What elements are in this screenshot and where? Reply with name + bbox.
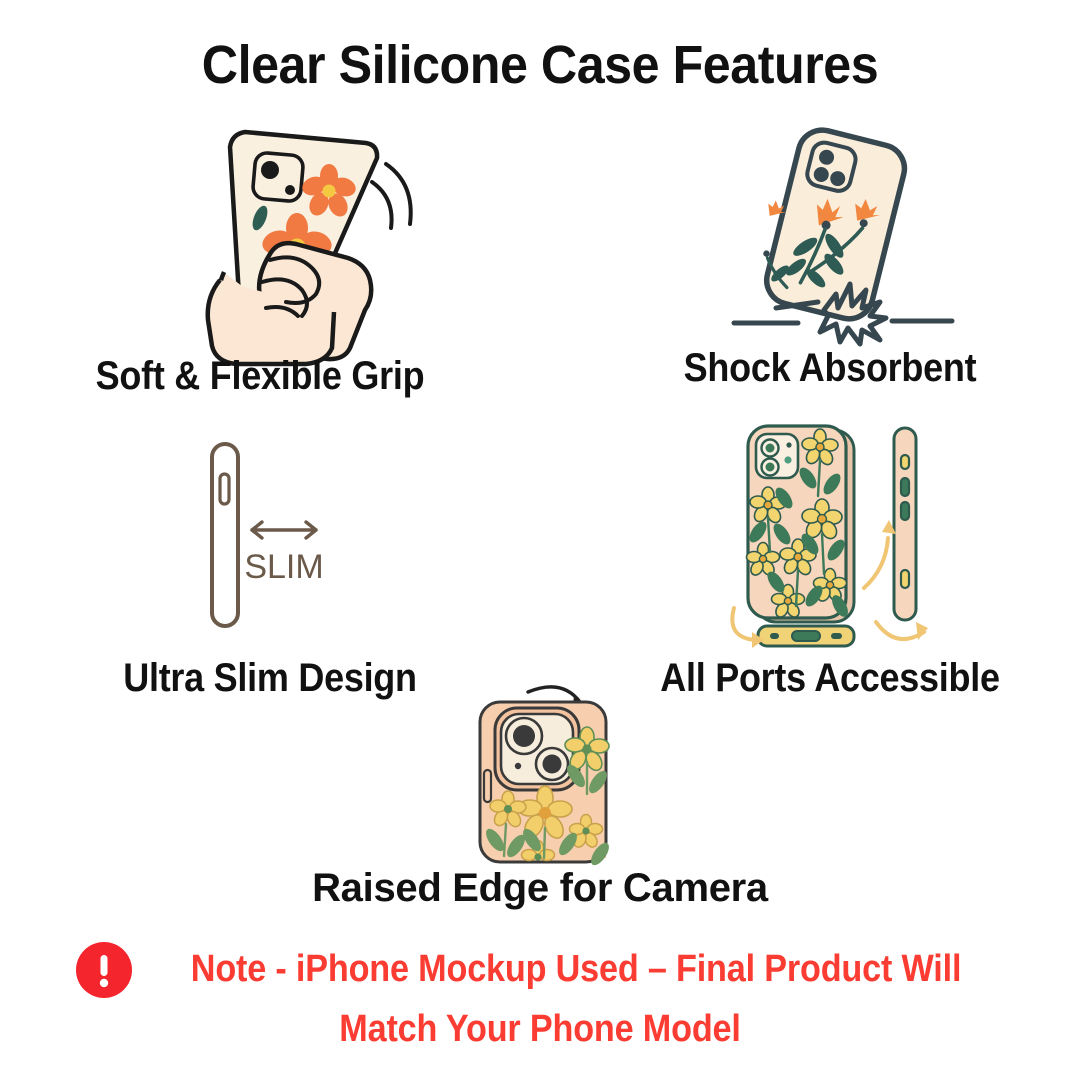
feature-label-shock-absorbent: Shock Absorbent xyxy=(614,346,1046,391)
note-line-1: Note - iPhone Mockup Used – Final Produc… xyxy=(191,948,961,991)
feature-label-soft-flexible-grip: Soft & Flexible Grip xyxy=(44,354,476,399)
feature-label-raised-edge-for-camera: Raised Edge for Camera xyxy=(240,866,840,911)
hand-holding-phone-icon xyxy=(120,112,480,362)
phone-impact-burst-icon xyxy=(720,118,960,348)
phone-side-profile-icon: SLIM SLIM xyxy=(190,430,370,645)
note-line-2: Match Your Phone Model xyxy=(339,1008,740,1051)
note-banner: Note - iPhone Mockup Used – Final Produc… xyxy=(0,940,1080,1051)
phone-ports-arrows-icon xyxy=(700,410,970,660)
phone-camera-bump-icon xyxy=(440,662,670,862)
feature-label-ultra-slim-design: Ultra Slim Design xyxy=(45,656,495,701)
feature-label-all-ports-accessible: All Ports Accessible xyxy=(605,656,1055,701)
infographic-page: Clear Silicone Case Features xyxy=(0,0,1080,1080)
exclamation-circle-icon xyxy=(76,942,132,998)
slim-caption: SLIM xyxy=(244,548,323,586)
page-title: Clear Silicone Case Features xyxy=(38,34,1042,96)
